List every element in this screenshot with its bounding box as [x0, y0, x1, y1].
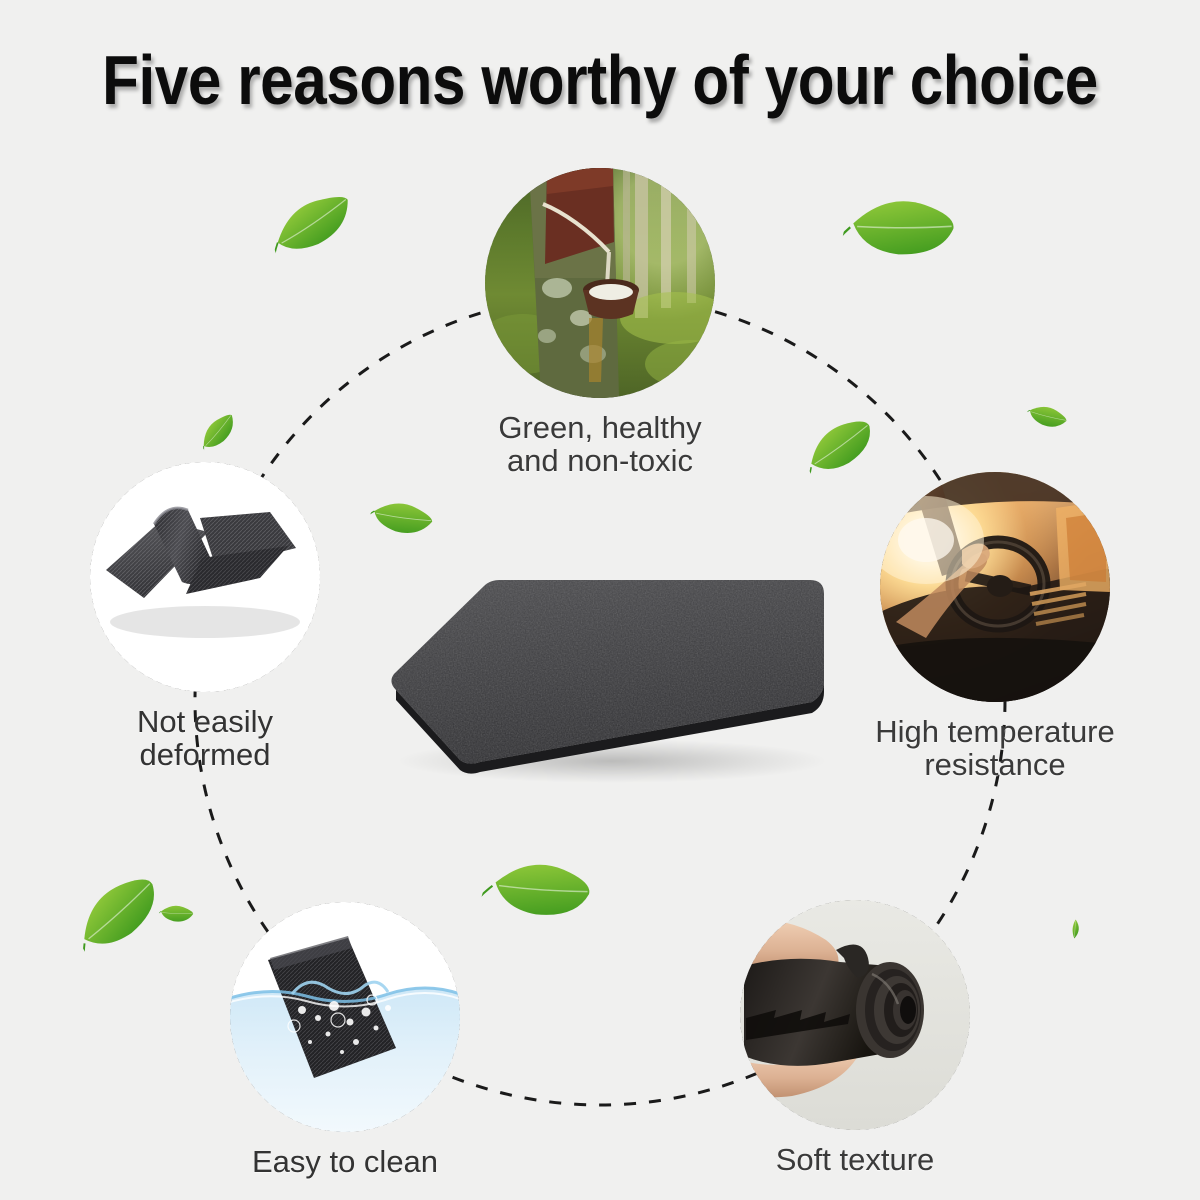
- leaf-icon: [840, 183, 963, 271]
- leaf-icon: [480, 844, 603, 934]
- feature-not-easily-deformed[interactable]: Not easily deformed: [90, 462, 320, 772]
- leaf-icon: [1055, 891, 1094, 967]
- leaf-icon: [1021, 389, 1076, 444]
- leaf-icon: [363, 478, 443, 556]
- feature-label: Easy to clean: [195, 1145, 495, 1178]
- car-interior-sunset-photo: [880, 472, 1110, 702]
- feature-easy-to-clean[interactable]: Easy to clean: [230, 902, 460, 1178]
- feature-green[interactable]: Green, healthy and non-toxic: [485, 168, 715, 478]
- hand-rolling-mat-photo: [740, 900, 970, 1130]
- rubber-tree-tapping-photo: [485, 168, 715, 398]
- feature-label: Green, healthy and non-toxic: [450, 411, 750, 478]
- feature-label: High temperature resistance: [845, 715, 1145, 782]
- mat-in-water-photo: [230, 902, 460, 1132]
- feature-high-temperature-resistance[interactable]: High temperature resistance: [880, 472, 1110, 782]
- feature-label: Soft texture: [705, 1143, 1005, 1176]
- page-title: Five reasons worthy of your choice: [84, 40, 1116, 120]
- feature-label: Not easily deformed: [70, 705, 340, 772]
- folded-mat-photo: [90, 462, 320, 692]
- leaf-icon: [190, 405, 245, 458]
- infographic-canvas: Five reasons worthy of your choice: [0, 0, 1200, 1200]
- feature-soft-texture[interactable]: Soft texture: [740, 900, 970, 1176]
- leaf-icon: [262, 183, 364, 260]
- leaf-icon: [794, 405, 886, 487]
- leaf-icon: [156, 893, 198, 932]
- product-image: [372, 556, 842, 786]
